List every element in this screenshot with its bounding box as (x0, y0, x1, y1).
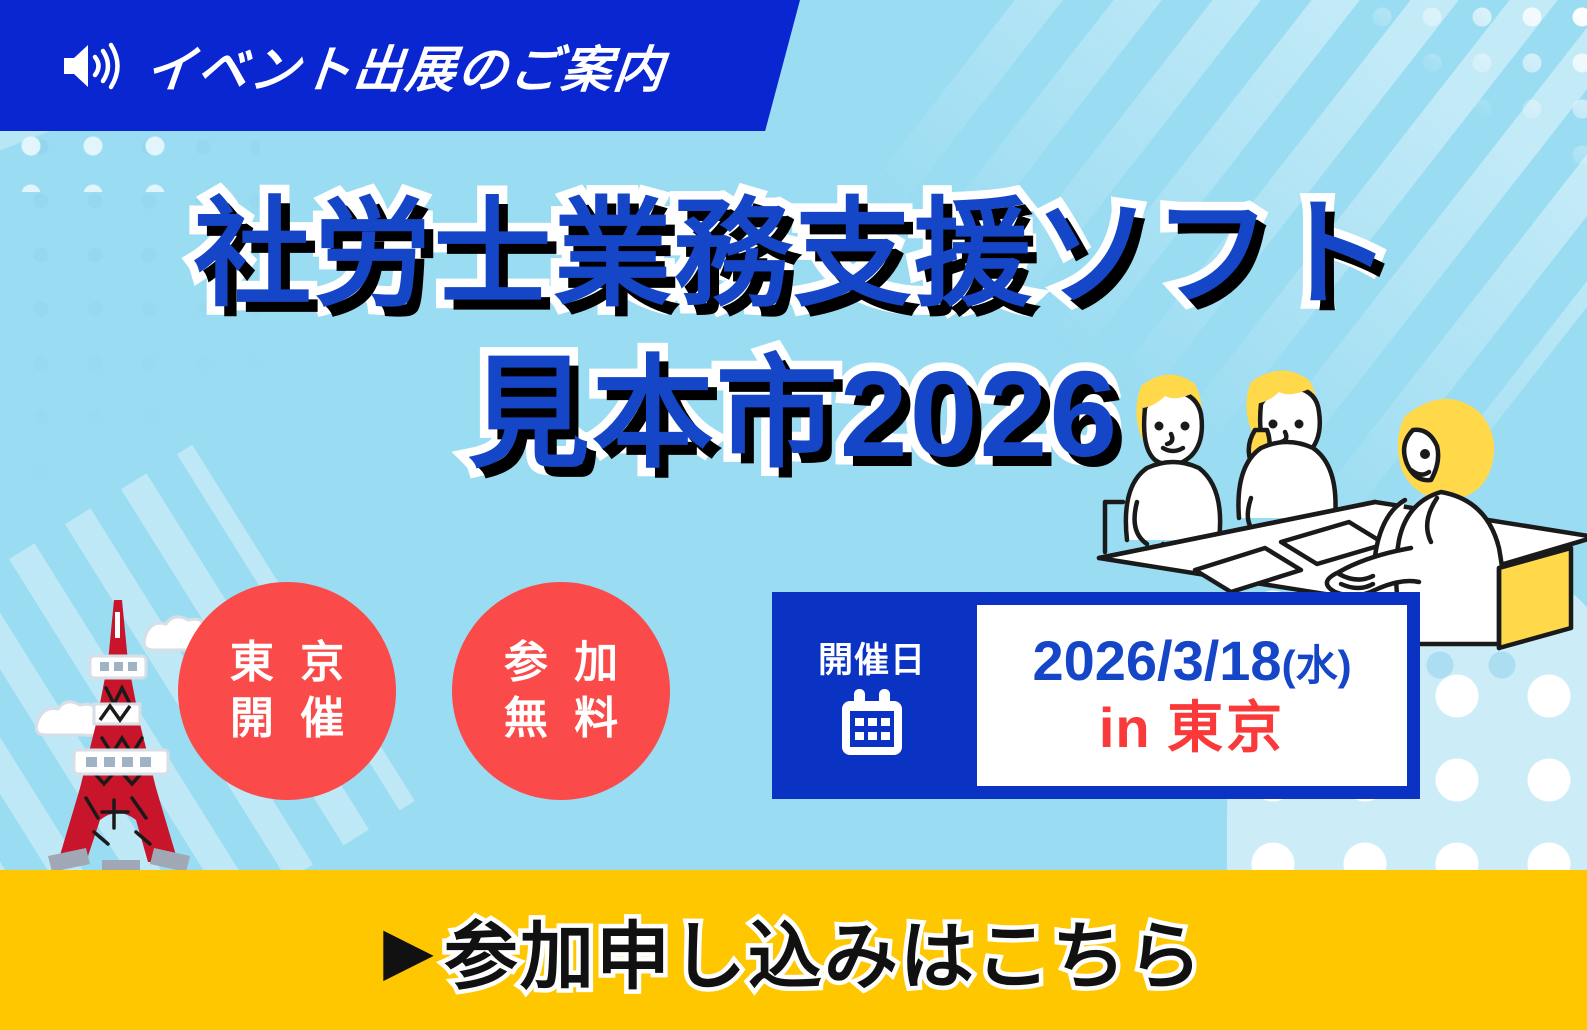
event-date-text: 2026/3/18 (1032, 629, 1281, 692)
event-date: 2026/3/18(水) (1032, 631, 1351, 691)
event-date-box: 開催日 2026/3/18(水) in (772, 592, 1420, 799)
badge-sanka-muryo: 参 加 無 料 (452, 582, 670, 800)
event-location: in 東京 (1099, 696, 1285, 760)
apply-cta-label: 参加申し込みはこちら (444, 897, 1204, 1004)
badge-tokyo-line1: 東 京 (223, 635, 351, 691)
white-dot-cluster-top-right (1357, 0, 1587, 164)
date-value-panel: 2026/3/18(水) in 東京 (972, 600, 1412, 791)
play-arrow-icon: ▶ (383, 912, 434, 989)
speaker-announce-icon (60, 40, 124, 92)
header-title: イベント出展のご案内 (142, 30, 670, 102)
location-prefix: in (1099, 696, 1151, 759)
badge-free-line1: 参 加 (497, 635, 625, 691)
header-ribbon: イベント出展のご案内 (0, 0, 800, 131)
badge-free-line2: 無 料 (497, 691, 625, 747)
event-promo-banner: イベント出展のご案内 社労士業務支援ソフト 見本市2026 (0, 0, 1587, 1030)
badge-tokyo-line2: 開 催 (223, 691, 351, 747)
white-dot-cluster-top-left (0, 122, 200, 192)
event-weekday: (水) (1282, 642, 1352, 689)
date-label: 開催日 (818, 632, 926, 683)
location-name: 東京 (1167, 696, 1285, 759)
date-label-panel: 開催日 (772, 592, 972, 799)
apply-cta-bar[interactable]: ▶ 参加申し込みはこちら (0, 870, 1587, 1030)
calendar-icon (836, 687, 908, 759)
badge-tokyo-kaisai: 東 京 開 催 (178, 582, 396, 800)
